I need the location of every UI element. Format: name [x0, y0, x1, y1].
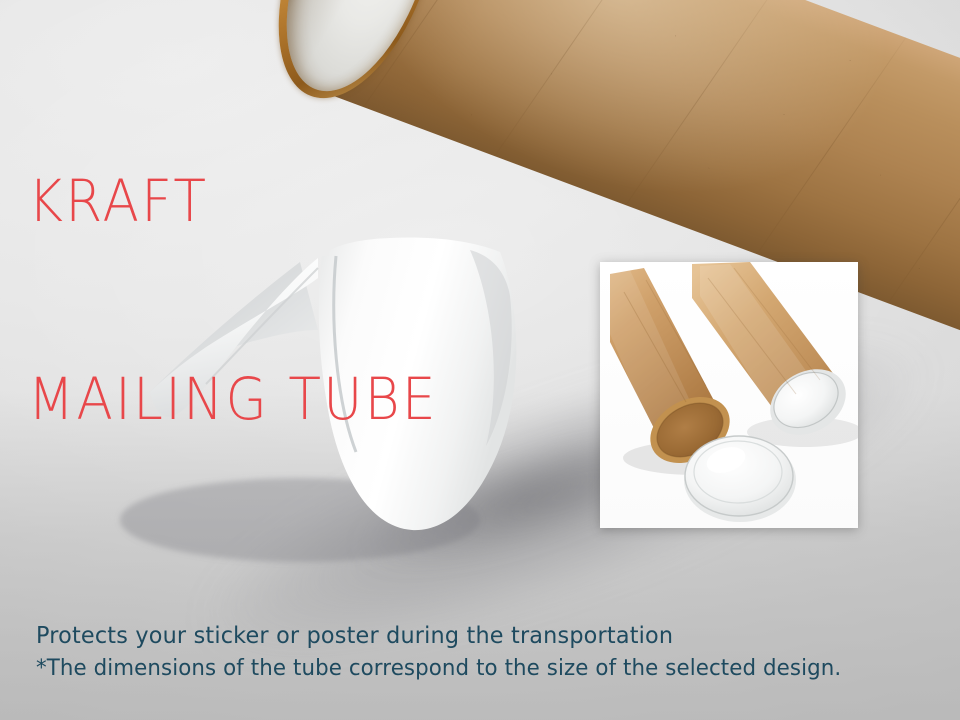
product-detail-inset[interactable]: [600, 262, 858, 528]
feature-line-2: Plastic end caps fit tightly to secure t…: [36, 716, 733, 720]
feature-description: Protects your sticker or poster during t…: [36, 556, 733, 720]
feature-line-1: Protects your sticker or poster during t…: [36, 620, 733, 652]
page-title: KRAFT MAILING TUBE: [28, 36, 438, 564]
footnote-text: *The dimensions of the tube correspond t…: [36, 656, 841, 681]
inset-photo-content: [600, 262, 858, 528]
inset-loose-end-cap: [684, 436, 796, 522]
title-line-1: KRAFT: [28, 168, 438, 234]
promo-image-canvas: KRAFT MAILING TUBE Protects your sticker…: [0, 0, 960, 720]
title-line-2: MAILING TUBE: [28, 366, 438, 432]
